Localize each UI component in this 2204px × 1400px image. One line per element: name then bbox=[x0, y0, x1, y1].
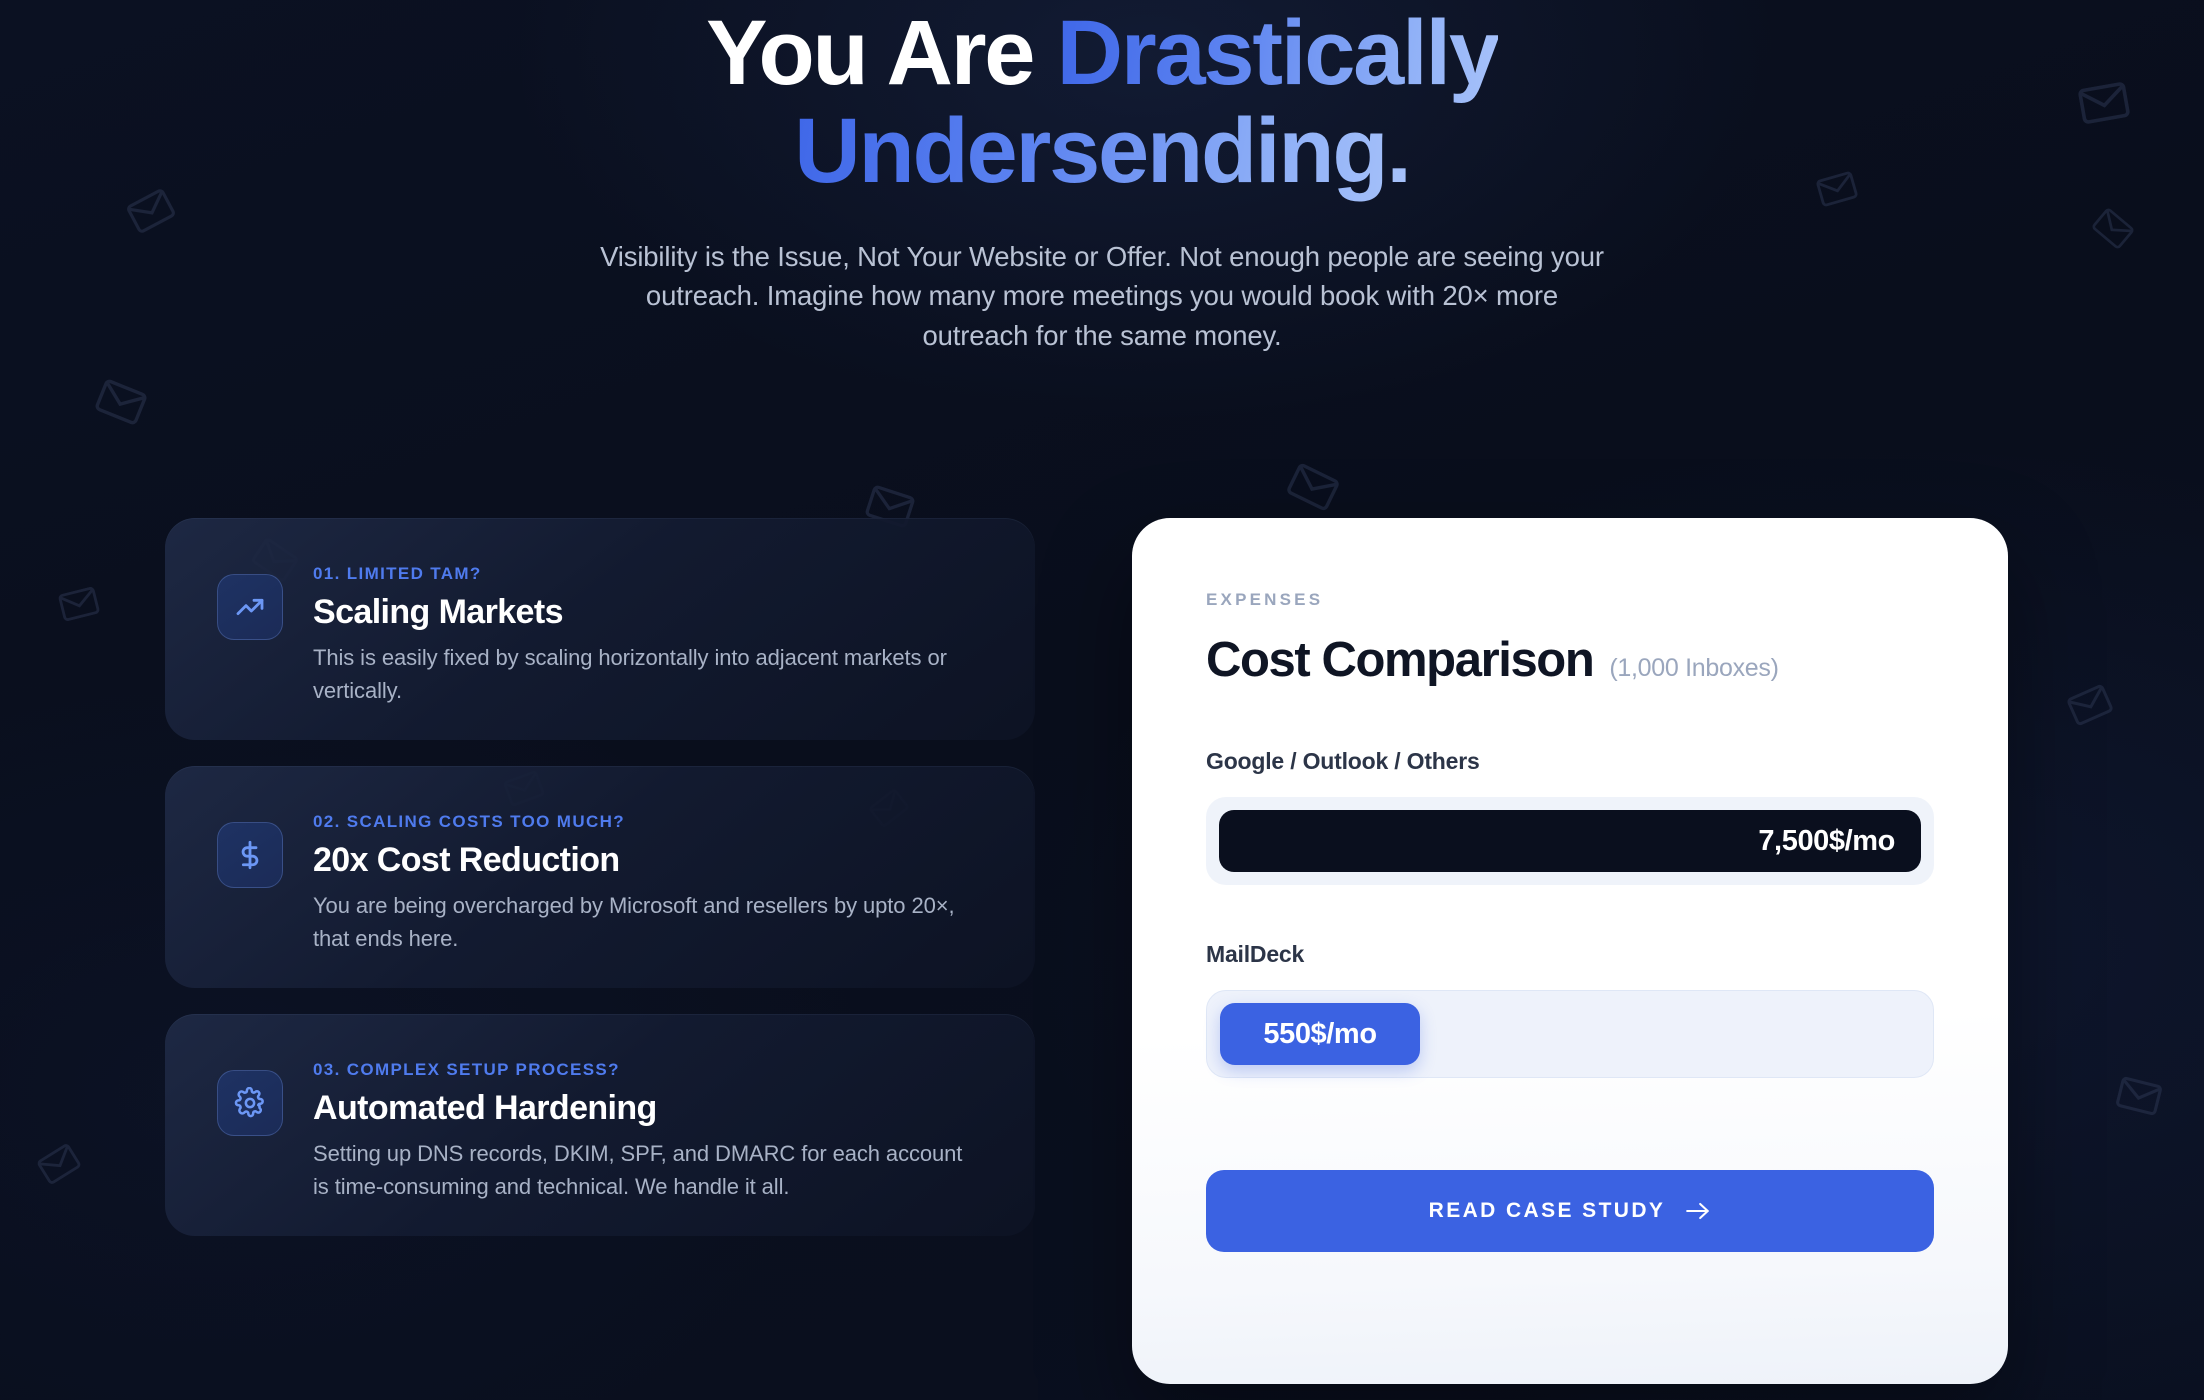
feature-card-eyebrow: 02. SCALING COSTS TOO MUCH? bbox=[313, 812, 983, 832]
hero-title-accent-1: Drastically bbox=[1057, 2, 1498, 104]
hero-title-accent-2: Undersending. bbox=[794, 100, 1409, 202]
cta-label: READ CASE STUDY bbox=[1429, 1199, 1666, 1223]
feature-card-title: Scaling Markets bbox=[313, 593, 983, 632]
panel-title: Cost Comparison bbox=[1206, 632, 1593, 688]
feature-card-eyebrow: 03. COMPLEX SETUP PROCESS? bbox=[313, 1060, 983, 1080]
cost-bar-value: 7,500$/mo bbox=[1758, 825, 1895, 858]
hero-subtitle: Visibility is the Issue, Not Your Websit… bbox=[592, 237, 1612, 356]
feature-card-description: Setting up DNS records, DKIM, SPF, and D… bbox=[313, 1138, 983, 1203]
feature-card-title: 20x Cost Reduction bbox=[313, 841, 983, 880]
feature-card-list: 01. LIMITED TAM? Scaling Markets This is… bbox=[165, 518, 1035, 1236]
read-case-study-button[interactable]: READ CASE STUDY bbox=[1206, 1170, 1934, 1252]
hero-section: You Are Drastically Undersending. Visibi… bbox=[0, 0, 2204, 356]
content-columns: 01. LIMITED TAM? Scaling Markets This is… bbox=[0, 518, 2204, 1400]
gear-icon bbox=[217, 1070, 283, 1136]
feature-card-scaling-markets[interactable]: 01. LIMITED TAM? Scaling Markets This is… bbox=[165, 518, 1035, 740]
page-root: You Are Drastically Undersending. Visibi… bbox=[0, 0, 2204, 1400]
cost-bar-track: 7,500$/mo bbox=[1206, 797, 1934, 885]
feature-card-description: This is easily fixed by scaling horizont… bbox=[313, 642, 983, 707]
feature-card-eyebrow: 01. LIMITED TAM? bbox=[313, 564, 983, 584]
cost-comparison-panel: EXPENSES Cost Comparison (1,000 Inboxes)… bbox=[1132, 518, 2008, 1384]
arrow-right-icon bbox=[1685, 1201, 1711, 1221]
feature-card-description: You are being overcharged by Microsoft a… bbox=[313, 890, 983, 955]
panel-eyebrow: EXPENSES bbox=[1206, 590, 1934, 610]
panel-title-note: (1,000 Inboxes) bbox=[1609, 654, 1778, 683]
page-title: You Are Drastically Undersending. bbox=[0, 4, 2204, 201]
cost-bar-value: 550$/mo bbox=[1263, 1018, 1376, 1051]
feature-card-body: 03. COMPLEX SETUP PROCESS? Automated Har… bbox=[313, 1058, 983, 1203]
cost-bar-fill-competitors: 7,500$/mo bbox=[1219, 810, 1921, 872]
cost-bar-track: 550$/mo bbox=[1206, 990, 1934, 1078]
feature-card-body: 02. SCALING COSTS TOO MUCH? 20x Cost Red… bbox=[313, 810, 983, 955]
trending-up-icon bbox=[217, 574, 283, 640]
feature-card-body: 01. LIMITED TAM? Scaling Markets This is… bbox=[313, 562, 983, 707]
feature-card-cost-reduction[interactable]: 02. SCALING COSTS TOO MUCH? 20x Cost Red… bbox=[165, 766, 1035, 988]
cost-bar-label: MailDeck bbox=[1206, 941, 1934, 968]
cost-bar-label: Google / Outlook / Others bbox=[1206, 748, 1934, 775]
feature-card-title: Automated Hardening bbox=[313, 1089, 983, 1128]
cost-bar-group-maildeck: MailDeck 550$/mo bbox=[1206, 941, 1934, 1078]
feature-card-automated-hardening[interactable]: 03. COMPLEX SETUP PROCESS? Automated Har… bbox=[165, 1014, 1035, 1236]
panel-heading-row: Cost Comparison (1,000 Inboxes) bbox=[1206, 632, 1934, 688]
hero-title-white: You Are bbox=[706, 2, 1056, 104]
cost-bar-group-competitors: Google / Outlook / Others 7,500$/mo bbox=[1206, 748, 1934, 885]
dollar-sign-icon bbox=[217, 822, 283, 888]
cost-bar-fill-maildeck: 550$/mo bbox=[1220, 1003, 1420, 1065]
hero-title-line1: You Are Drastically bbox=[706, 2, 1498, 104]
